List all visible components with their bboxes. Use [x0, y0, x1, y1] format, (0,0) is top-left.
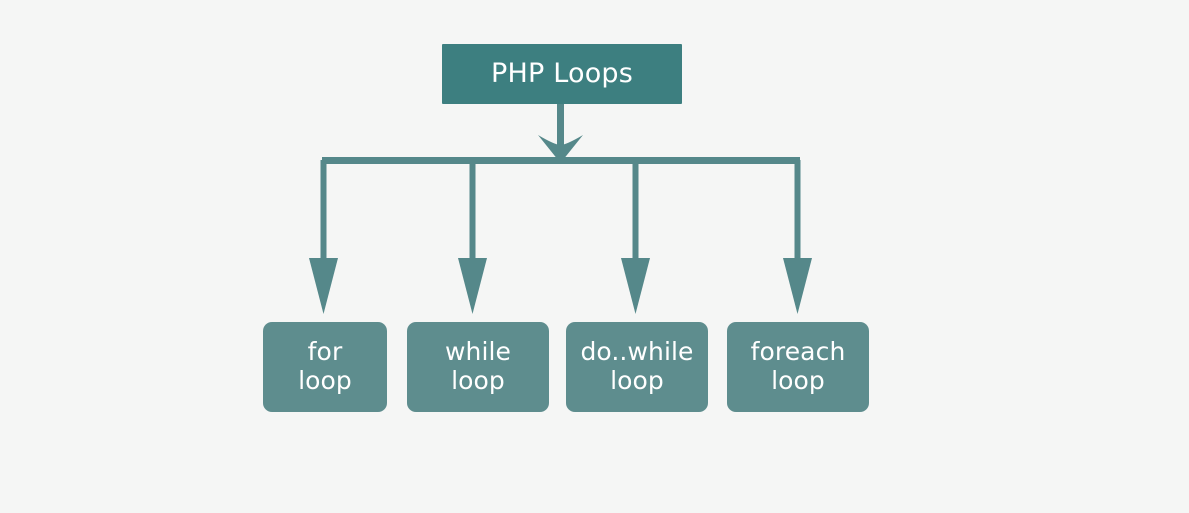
node-do-while-loop: do..while loop — [566, 322, 708, 412]
branch-arrowhead-foreach — [783, 258, 812, 314]
branch-arrowhead-while — [458, 258, 487, 314]
branch-arrowhead-do-while — [621, 258, 650, 314]
node-foreach-loop: foreach loop — [727, 322, 869, 412]
branch-arrowhead-for — [309, 258, 338, 314]
node-for-loop: for loop — [263, 322, 387, 412]
node-while-loop: while loop — [407, 322, 549, 412]
node-php-loops: PHP Loops — [442, 44, 682, 104]
php-loops-diagram: PHP Loops for loop while loop do..while … — [0, 0, 1189, 513]
